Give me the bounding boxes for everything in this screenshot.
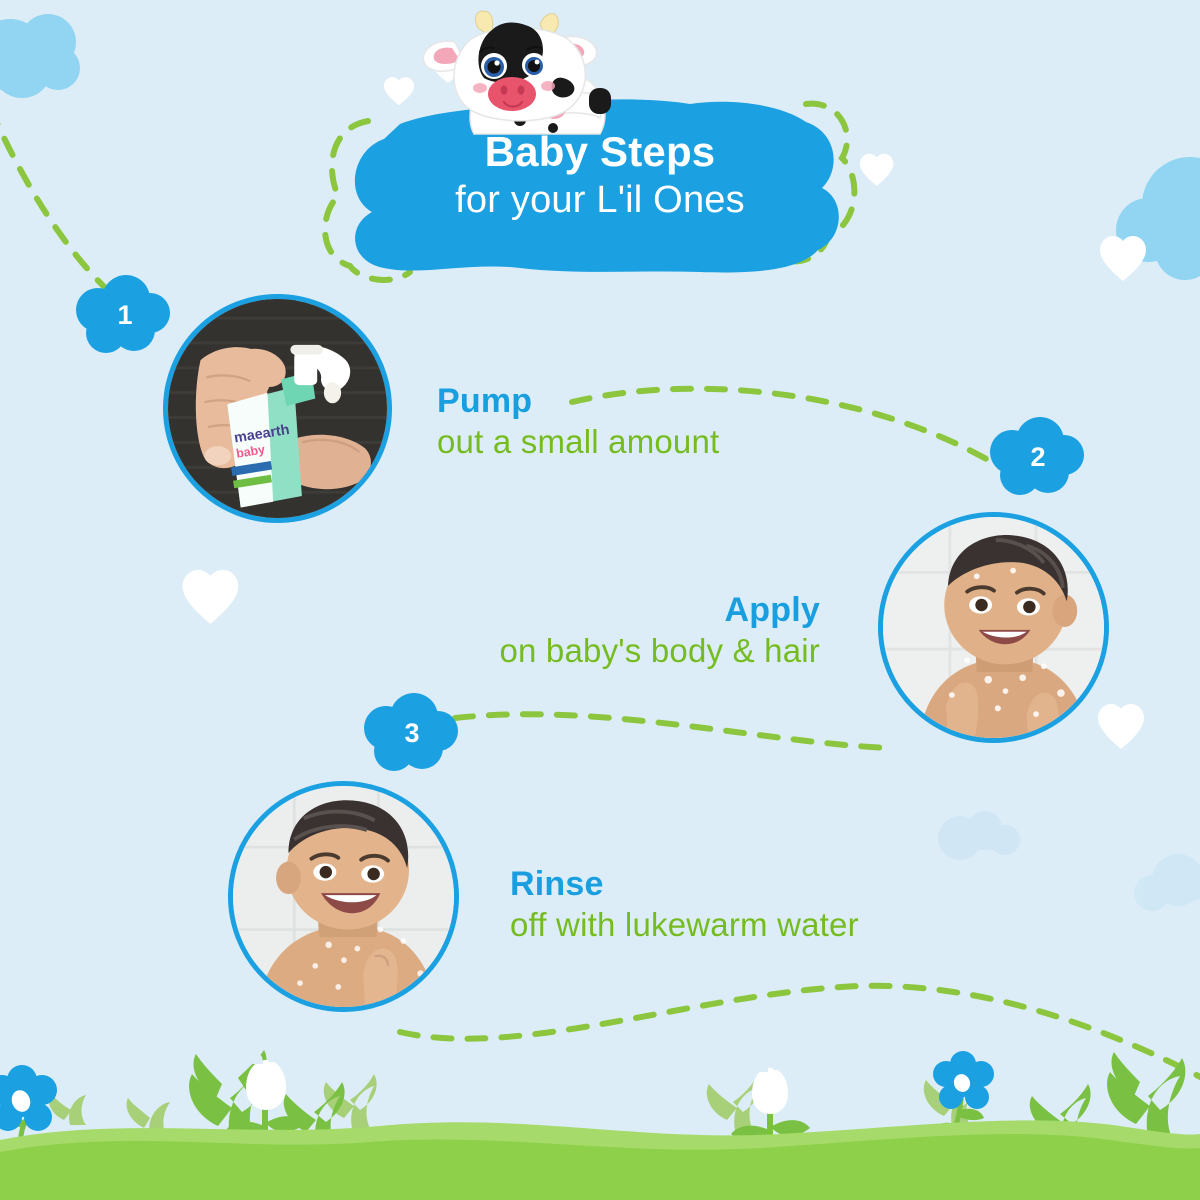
step-photo-2 <box>878 512 1109 743</box>
cow-hand-icon <box>589 88 611 114</box>
step-description-3: off with lukewarm water <box>510 906 980 945</box>
step-text-2: Apply on baby's body & hair <box>400 590 820 671</box>
step-description-2: on baby's body & hair <box>400 632 820 671</box>
cloud-top-left <box>0 14 80 98</box>
step-photo-1: maearth baby <box>163 294 392 523</box>
step-description-1: out a small amount <box>437 423 857 462</box>
step-text-3: Rinse off with lukewarm water <box>510 864 980 945</box>
step-title-1: Pump <box>437 381 857 421</box>
step-text-1: Pump out a small amount <box>437 381 857 462</box>
step-title-2: Apply <box>400 590 820 630</box>
step-title-3: Rinse <box>510 864 980 904</box>
step-photo-3 <box>228 781 459 1012</box>
infographic-canvas: maearth baby <box>0 0 1200 1200</box>
